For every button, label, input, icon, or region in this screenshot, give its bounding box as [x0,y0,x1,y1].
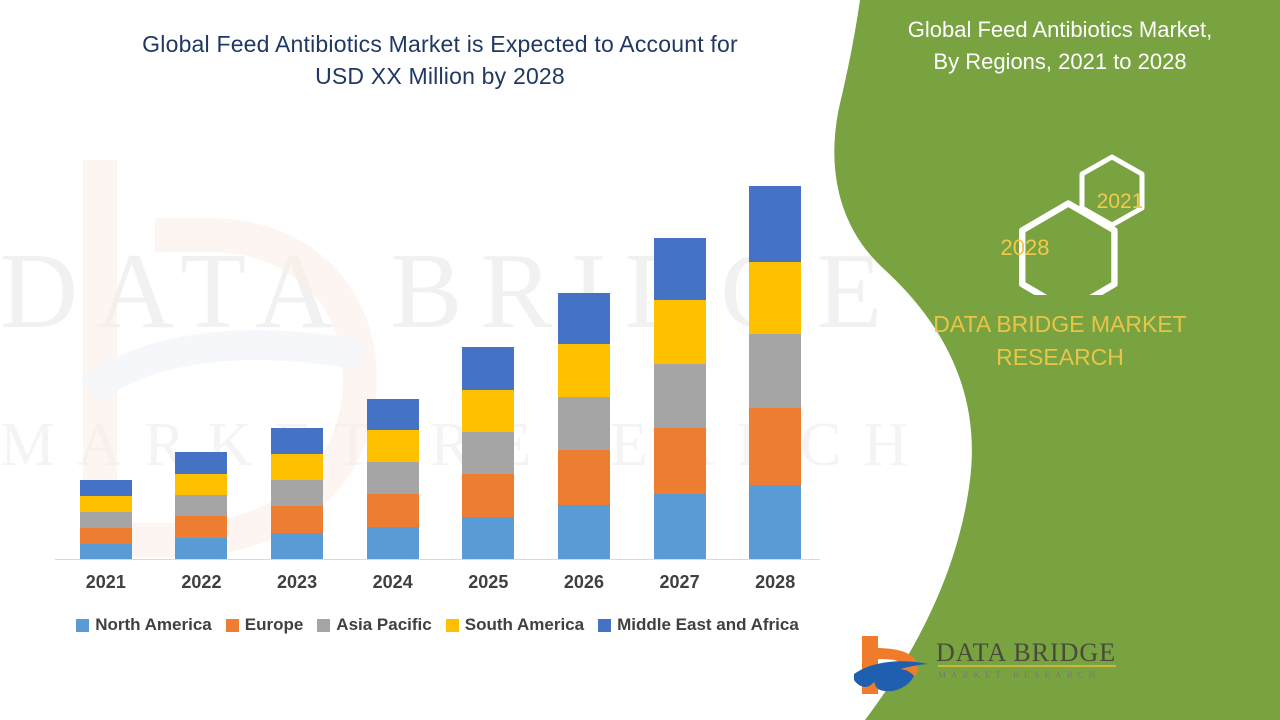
bar-column-2021 [80,480,132,560]
bar-segment [271,428,323,454]
bar-segment [271,506,323,533]
bar-segment [175,538,227,560]
legend-swatch-icon [446,619,459,632]
bar-segment [462,517,514,560]
hexagon-group: 2028 2021 [960,135,1180,295]
legend-label: Europe [245,615,304,635]
bar-column-2023 [271,428,323,560]
bar-segment [80,512,132,528]
bar-segment [271,454,323,480]
bar-segment [80,528,132,544]
bar-segment [654,364,706,428]
legend-label: Middle East and Africa [617,615,799,635]
chart-panel: DATA BRIDGE MARKET RESEARCH Global Feed … [0,0,870,720]
x-axis-label-2028: 2028 [735,572,815,593]
bar-segment [558,397,610,450]
bar-segment [558,505,610,560]
bar-segment [367,462,419,494]
bar-segment [654,300,706,364]
brand-name: DATA BRIDGE MARKET RESEARCH [850,308,1270,374]
bar-segment [80,544,132,560]
x-axis-label-2026: 2026 [544,572,624,593]
bar-column-2022 [175,452,227,560]
bar-segment [654,494,706,560]
bar-segment [271,533,323,560]
brand-name-line-2: RESEARCH [850,341,1270,374]
logo-subtitle: MARKET RESEARCH [938,670,1100,680]
logo-wordmark: DATA BRIDGE [936,638,1116,668]
chart-title-line-2: USD XX Million by 2028 [60,60,820,92]
bar-segment [367,527,419,560]
x-axis-labels: 20212022202320242025202620272028 [55,572,820,602]
x-axis-label-2022: 2022 [161,572,241,593]
legend-label: South America [465,615,584,635]
bar-segment [367,399,419,430]
bar-segment [462,390,514,432]
bar-segment [367,430,419,462]
bar-segment [749,262,801,334]
data-bridge-logo-icon [848,632,934,702]
bar-segment [462,347,514,390]
bar-segment [558,450,610,505]
x-axis-label-2027: 2027 [640,572,720,593]
x-axis-label-2023: 2023 [257,572,337,593]
bar-segment [558,344,610,397]
hexagon-outlines-icon [960,135,1180,295]
panel-title: Global Feed Antibiotics Market, By Regio… [850,14,1270,78]
legend-swatch-icon [76,619,89,632]
bar-segment [654,238,706,300]
x-axis-label-2025: 2025 [448,572,528,593]
legend-item[interactable]: Middle East and Africa [598,615,799,635]
legend-label: North America [95,615,212,635]
bar-segment [175,495,227,516]
logo-divider [938,665,1116,667]
chart-title-line-1: Global Feed Antibiotics Market is Expect… [60,28,820,60]
bar-segment [175,474,227,495]
bar-segment [558,293,610,344]
legend-item[interactable]: North America [76,615,212,635]
chart-title: Global Feed Antibiotics Market is Expect… [60,28,820,92]
panel-title-line-1: Global Feed Antibiotics Market, [850,14,1270,46]
plot-area [55,150,820,560]
bar-column-2025 [462,347,514,560]
legend-item[interactable]: Europe [226,615,304,635]
bar-segment [80,480,132,496]
legend-item[interactable]: Asia Pacific [317,615,431,635]
brand-panel: Global Feed Antibiotics Market, By Regio… [830,0,1280,720]
brand-name-line-1: DATA BRIDGE MARKET [850,308,1270,341]
bar-segment [749,334,801,408]
legend-swatch-icon [226,619,239,632]
legend-swatch-icon [598,619,611,632]
x-axis-label-2024: 2024 [353,572,433,593]
bar-segment [749,408,801,485]
bar-segment [175,452,227,474]
company-logo: DATA BRIDGE MARKET RESEARCH [848,632,1128,704]
bar-segment [367,494,419,527]
bar-segment [462,474,514,517]
chart-legend: North AmericaEuropeAsia PacificSouth Ame… [55,615,820,635]
panel-title-line-2: By Regions, 2021 to 2028 [850,46,1270,78]
hexagon-label-2021: 2021 [1070,190,1170,214]
bar-column-2028 [749,186,801,560]
bar-segment [749,186,801,262]
bar-segment [175,516,227,538]
legend-swatch-icon [317,619,330,632]
bar-segment [749,485,801,560]
legend-item[interactable]: South America [446,615,584,635]
bar-segment [271,480,323,506]
bar-segment [80,496,132,512]
bar-segment [654,428,706,494]
bar-column-2027 [654,238,706,560]
legend-label: Asia Pacific [336,615,431,635]
bar-column-2024 [367,399,419,560]
x-axis-label-2021: 2021 [66,572,146,593]
bar-column-2026 [558,293,610,560]
x-axis-line [55,559,820,560]
infographic-slide: DATA BRIDGE MARKET RESEARCH Global Feed … [0,0,1280,720]
hexagon-label-2028: 2028 [970,235,1080,261]
bar-segment [462,432,514,474]
